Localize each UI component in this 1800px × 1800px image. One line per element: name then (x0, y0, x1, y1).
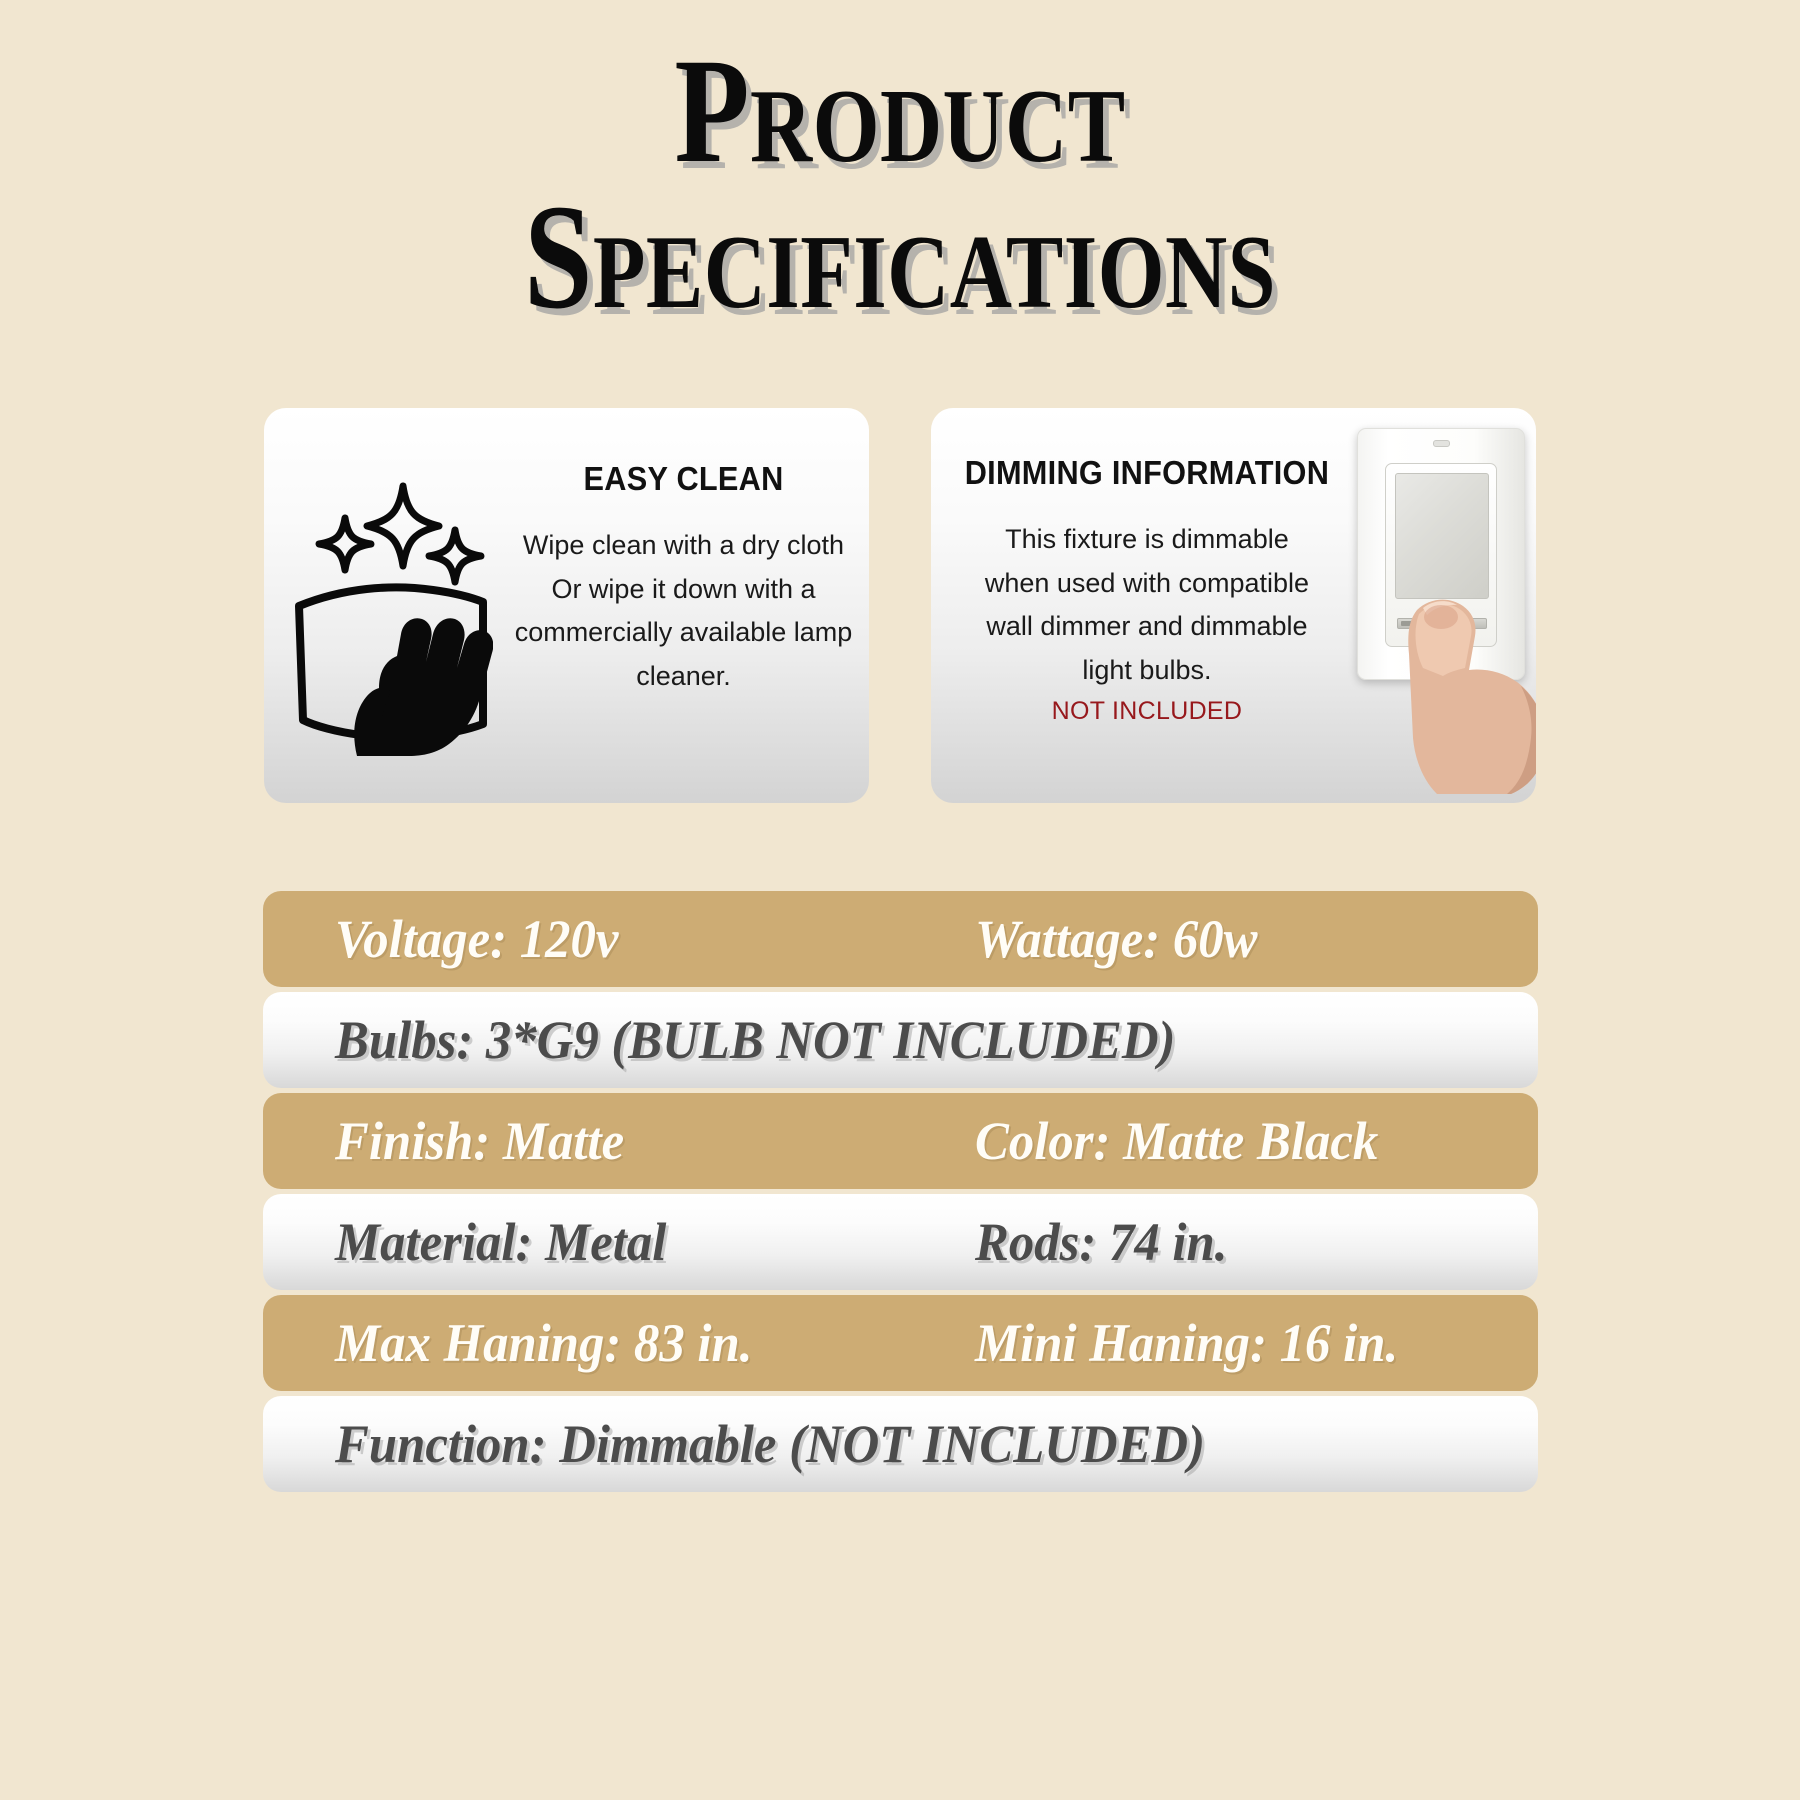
card-easy-clean: EASY CLEAN Wipe clean with a dry cloth O… (264, 408, 869, 803)
dimming-body: This fixture is dimmable when used with … (977, 518, 1317, 693)
spec-wattage: Wattage: 60w (975, 908, 1455, 970)
card-dimming-information: DIMMING INFORMATION This fixture is dimm… (931, 408, 1536, 803)
page-title: Product Specifications (0, 0, 1800, 326)
easy-clean-text: EASY CLEAN Wipe clean with a dry cloth O… (512, 408, 869, 803)
easy-clean-heading: EASY CLEAN (583, 460, 783, 498)
wall-dimmer-switch-icon (1349, 408, 1536, 803)
spec-row-bulbs: Bulbs: 3*G9 (BULB NOT INCLUDED) (263, 992, 1538, 1088)
dimming-heading: DIMMING INFORMATION (965, 454, 1329, 492)
easy-clean-body: Wipe clean with a dry cloth Or wipe it d… (514, 524, 854, 699)
page-title-line-2: Specifications (162, 188, 1638, 326)
spec-bulbs: Bulbs: 3*G9 (BULB NOT INCLUDED) (335, 1009, 1175, 1071)
spec-row-function: Function: Dimmable (NOT INCLUDED) (263, 1396, 1538, 1492)
info-card-row: EASY CLEAN Wipe clean with a dry cloth O… (0, 408, 1800, 803)
plate-screw-top (1433, 440, 1450, 447)
pointing-finger-icon (1407, 584, 1536, 794)
spec-row-hanging: Max Haning: 83 in. Mini Haning: 16 in. (263, 1295, 1538, 1391)
spec-row-finish-color: Finish: Matte Color: Matte Black (263, 1093, 1538, 1189)
dimming-not-included-note: NOT INCLUDED (1052, 697, 1243, 726)
spec-finish: Finish: Matte (335, 1110, 937, 1172)
sparkle-cloth-hand-icon (264, 408, 512, 803)
specification-list: Voltage: 120v Wattage: 60w Bulbs: 3*G9 (… (263, 891, 1538, 1492)
rocker-face (1395, 473, 1489, 599)
spec-rods: Rods: 74 in. (975, 1211, 1455, 1273)
spec-max-hanging: Max Haning: 83 in. (335, 1312, 937, 1374)
spec-material: Material: Metal (335, 1211, 937, 1273)
spec-voltage: Voltage: 120v (335, 908, 937, 970)
spec-function: Function: Dimmable (NOT INCLUDED) (335, 1413, 1205, 1475)
dimming-text: DIMMING INFORMATION This fixture is dimm… (931, 408, 1349, 803)
spec-row-voltage-wattage: Voltage: 120v Wattage: 60w (263, 891, 1538, 987)
spec-row-material-rods: Material: Metal Rods: 74 in. (263, 1194, 1538, 1290)
page-title-line-1: Product (162, 42, 1638, 180)
spec-color: Color: Matte Black (975, 1110, 1455, 1172)
spec-mini-hanging: Mini Haning: 16 in. (975, 1312, 1455, 1374)
